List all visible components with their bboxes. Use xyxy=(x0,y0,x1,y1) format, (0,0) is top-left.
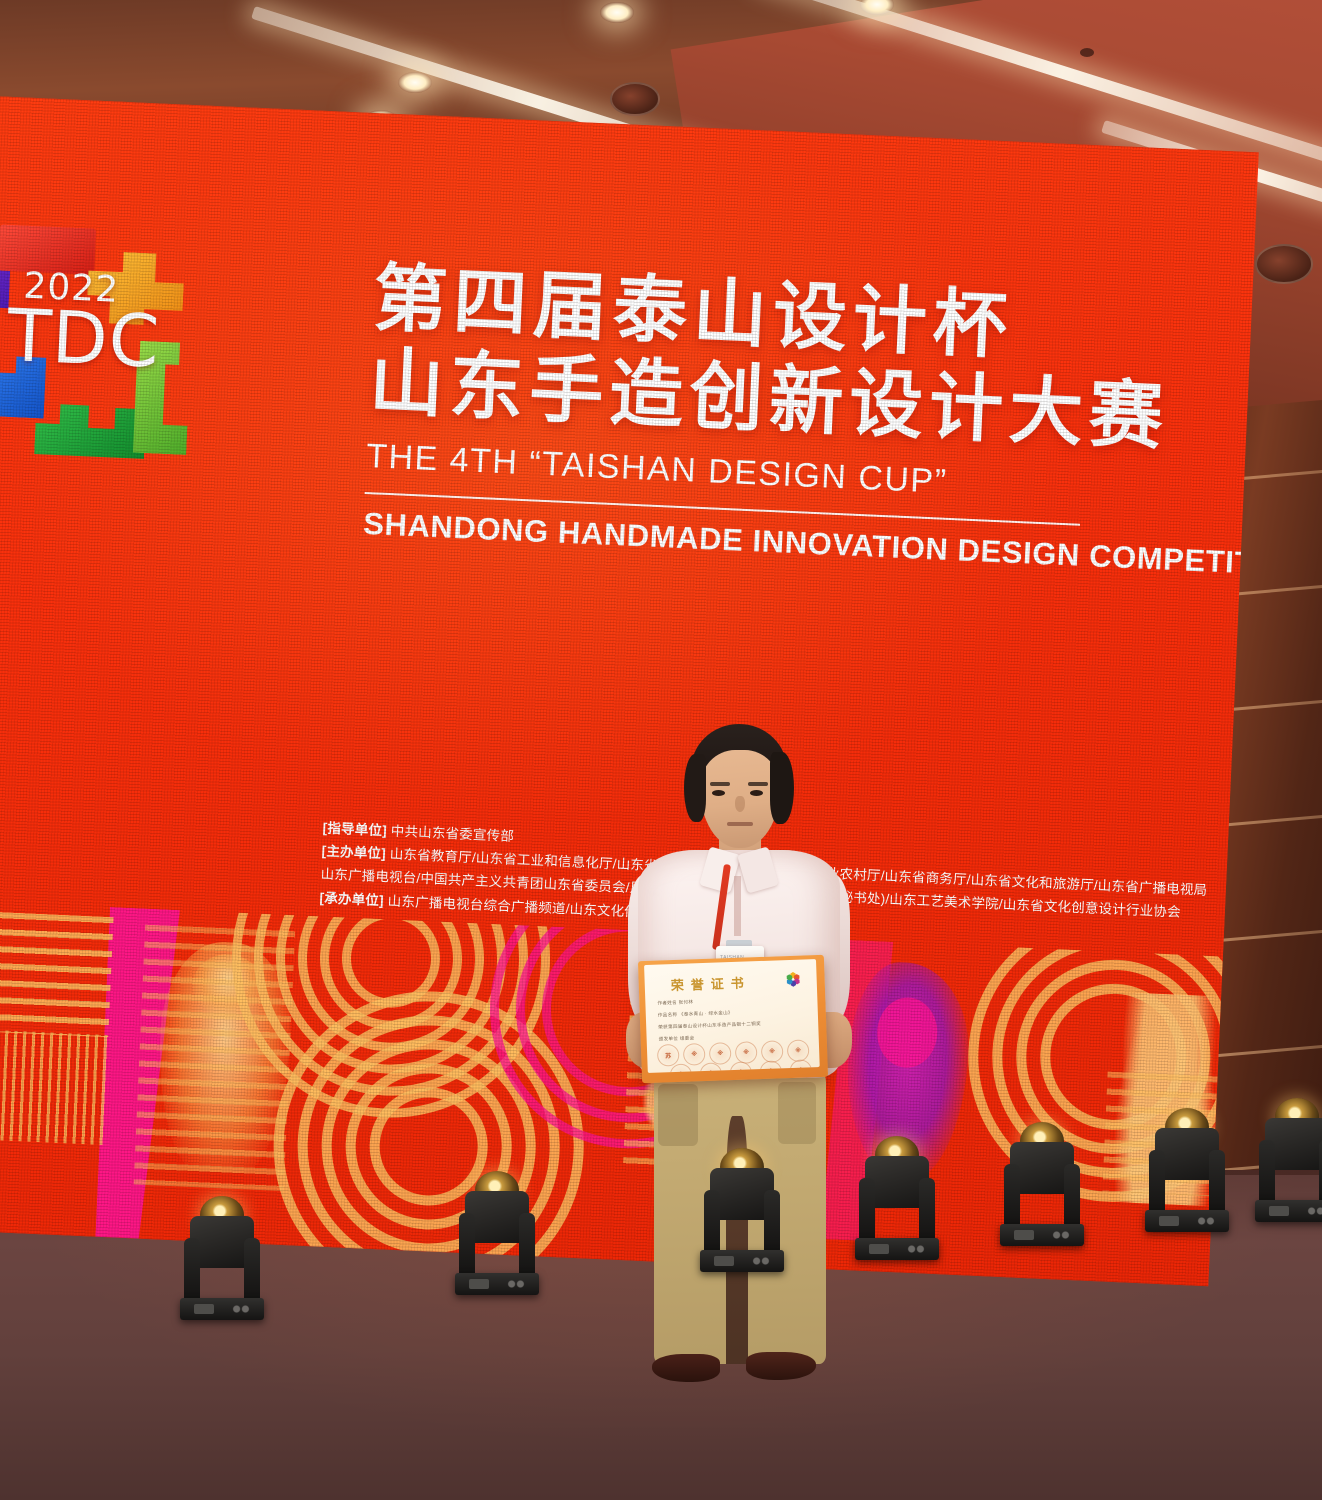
spotlight-base xyxy=(180,1298,264,1320)
spotlight-base xyxy=(855,1238,939,1260)
spotlight-base xyxy=(1255,1200,1322,1222)
spotlight-yoke xyxy=(519,1213,535,1275)
shirt-placket xyxy=(734,876,741,936)
logo-acronym: TDC xyxy=(5,293,161,384)
spotlight-yoke xyxy=(459,1213,475,1275)
credit-text: 中共山东省委宣传部 xyxy=(390,823,514,843)
title-block: 第四届泰山设计杯 山东手造创新设计大赛 THE 4TH “TAISHAN DES… xyxy=(363,261,1095,574)
certificate-field: 作品名称 《泰水青山 · 绿水金山》 xyxy=(658,1010,733,1019)
moving-head-spotlight xyxy=(455,1135,539,1295)
logo-block-green xyxy=(34,398,147,465)
spotlight-yoke xyxy=(1004,1164,1020,1226)
spotlight-yoke xyxy=(1064,1164,1080,1226)
spotlight-yoke xyxy=(764,1190,780,1252)
mouth xyxy=(727,822,753,826)
spotlight-yoke xyxy=(1209,1150,1225,1212)
spotlight-yoke xyxy=(704,1190,720,1252)
credit-tag: [主办单位] xyxy=(321,844,386,862)
recessed-downlight xyxy=(398,72,432,93)
hair-side xyxy=(770,752,794,824)
ceiling-vent xyxy=(1255,244,1313,284)
rainbow-hexagon-icon xyxy=(782,969,804,991)
recessed-downlight xyxy=(600,2,634,23)
ceiling-vent xyxy=(610,82,660,116)
spotlight-base xyxy=(700,1250,784,1272)
spotlight-yoke xyxy=(1259,1140,1275,1202)
eye xyxy=(750,790,763,796)
spotlight-yoke xyxy=(919,1178,935,1240)
moving-head-spotlight xyxy=(855,1100,939,1260)
spotlight-base xyxy=(1145,1210,1229,1232)
spotlight-base xyxy=(1000,1224,1084,1246)
moving-head-spotlight xyxy=(180,1160,264,1320)
eye xyxy=(712,790,725,796)
certificate-field: 作者姓名 张付林 xyxy=(657,999,693,1006)
ceiling-sensor xyxy=(1080,48,1094,57)
certificate-title: 荣誉证书 xyxy=(670,972,751,994)
credit-tag: [承办单位] xyxy=(319,890,384,908)
spotlight-yoke xyxy=(184,1238,200,1300)
certificate-field: 荣获第四届泰山设计杯山东手造产品银十二铜奖 xyxy=(658,1021,761,1031)
shoe xyxy=(652,1354,720,1382)
moving-head-spotlight xyxy=(1000,1086,1084,1246)
spotlight-yoke xyxy=(244,1238,260,1300)
eyebrow xyxy=(710,782,730,786)
spotlight-yoke xyxy=(1149,1150,1165,1212)
tdc-logo: 2022 TDC xyxy=(0,205,235,477)
spotlight-yoke xyxy=(859,1178,875,1240)
shoe xyxy=(746,1352,816,1380)
moving-head-spotlight xyxy=(700,1112,784,1272)
certificate-page: 荣誉证书 作者姓名 张付林 作品名称 《泰水青山 · 绿水金山》 荣获第四届泰山… xyxy=(644,959,820,1073)
moving-head-spotlight xyxy=(1255,1062,1322,1222)
honor-certificate: 荣誉证书 作者姓名 张付林 作品名称 《泰水青山 · 绿水金山》 荣获第四届泰山… xyxy=(638,955,828,1083)
moving-head-spotlight xyxy=(1145,1072,1229,1232)
hair-side xyxy=(684,754,706,822)
pants-pocket xyxy=(658,1084,698,1146)
credit-tag: [指导单位] xyxy=(322,820,387,838)
certificate-field: 颁发单位 组委会 xyxy=(659,1035,695,1042)
photograph-scene: 2022 TDC 第四届泰山设计杯 山东手造创新设计大赛 THE 4TH “TA… xyxy=(0,0,1322,1500)
spotlight-base xyxy=(455,1273,539,1295)
eyebrow xyxy=(748,782,768,786)
nose xyxy=(735,796,745,812)
